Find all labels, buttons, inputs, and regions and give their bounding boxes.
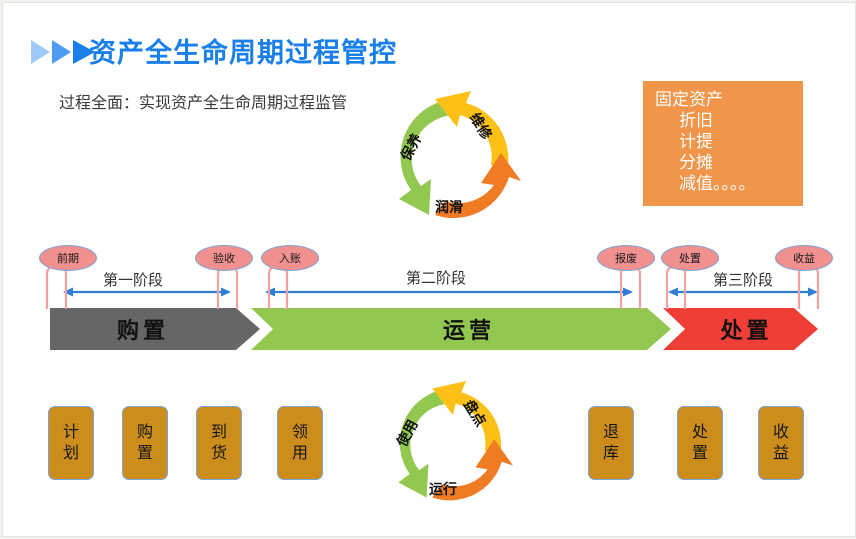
milestone-bubble-chuzhi[interactable]: 处置 [661, 245, 719, 271]
list-item[interactable]: 购 置 [122, 406, 168, 480]
phase-arrow-2 [265, 286, 633, 298]
bubble-connector-hook [33, 265, 73, 311]
slide-canvas: 资产全生命周期过程管控 过程全面：实现资产全生命周期过程监管 固定资产 折旧 计… [2, 2, 856, 537]
cycle-label: 运行 [429, 479, 457, 499]
milestone-bubble-shouyi[interactable]: 收益 [775, 245, 833, 271]
stage-chevron-gouzhi[interactable] [50, 308, 260, 350]
card-char: 处 [692, 422, 708, 443]
list-item[interactable]: 到 货 [196, 406, 242, 480]
bubble-connector-hook [202, 265, 242, 311]
stage-chevron-yunying[interactable] [251, 308, 671, 350]
milestone-bubble-ruzhang[interactable]: 入账 [261, 245, 319, 271]
milestone-bubble-baofei[interactable]: 报废 [597, 245, 655, 271]
card-char: 货 [211, 443, 227, 464]
stage-chevron-chuzhi[interactable] [663, 308, 818, 350]
bubble-connector-hook [655, 265, 695, 311]
card-char: 置 [137, 443, 153, 464]
info-line: 计提 [643, 132, 803, 153]
list-item[interactable]: 计 划 [48, 406, 94, 480]
milestone-bubble-yanshou[interactable]: 验收 [195, 245, 253, 271]
page-subtitle: 过程全面：实现资产全生命周期过程监管 [59, 89, 347, 113]
page-title: 资产全生命周期过程管控 [89, 31, 397, 70]
maintenance-cycle: 保养 维修 润滑 [389, 91, 521, 223]
list-item[interactable]: 收 益 [758, 406, 804, 480]
card-char: 收 [773, 422, 789, 443]
card-char: 领 [292, 422, 308, 443]
fixed-asset-info-box: 固定资产 折旧 计提 分摊 减值。。。。 [643, 81, 803, 206]
phase-label-2: 第二阶段 [406, 267, 466, 288]
info-line: 减值。。。。 [643, 174, 803, 195]
card-char: 退 [603, 422, 619, 443]
cycle-label: 润滑 [435, 197, 463, 217]
card-char: 购 [137, 422, 153, 443]
info-line: 折旧 [643, 111, 803, 132]
bubble-connector-hook [607, 265, 647, 311]
bubble-connector-hook [257, 265, 297, 311]
bubble-connector-hook [785, 265, 825, 311]
list-item[interactable]: 领 用 [277, 406, 323, 480]
card-char: 库 [603, 443, 619, 464]
card-char: 到 [211, 422, 227, 443]
milestone-bubble-qianqi[interactable]: 前期 [39, 245, 97, 271]
list-item[interactable]: 处 置 [677, 406, 723, 480]
card-char: 计 [63, 422, 79, 443]
info-line: 固定资产 [643, 81, 803, 111]
operation-cycle: 使用 盘点 运行 [385, 381, 517, 505]
card-char: 置 [692, 443, 708, 464]
info-line: 分摊 [643, 153, 803, 174]
list-item[interactable]: 退 库 [588, 406, 634, 480]
card-char: 划 [63, 443, 79, 464]
triple-triangle-icon [31, 37, 97, 67]
card-char: 益 [773, 443, 789, 464]
card-char: 用 [292, 443, 308, 464]
